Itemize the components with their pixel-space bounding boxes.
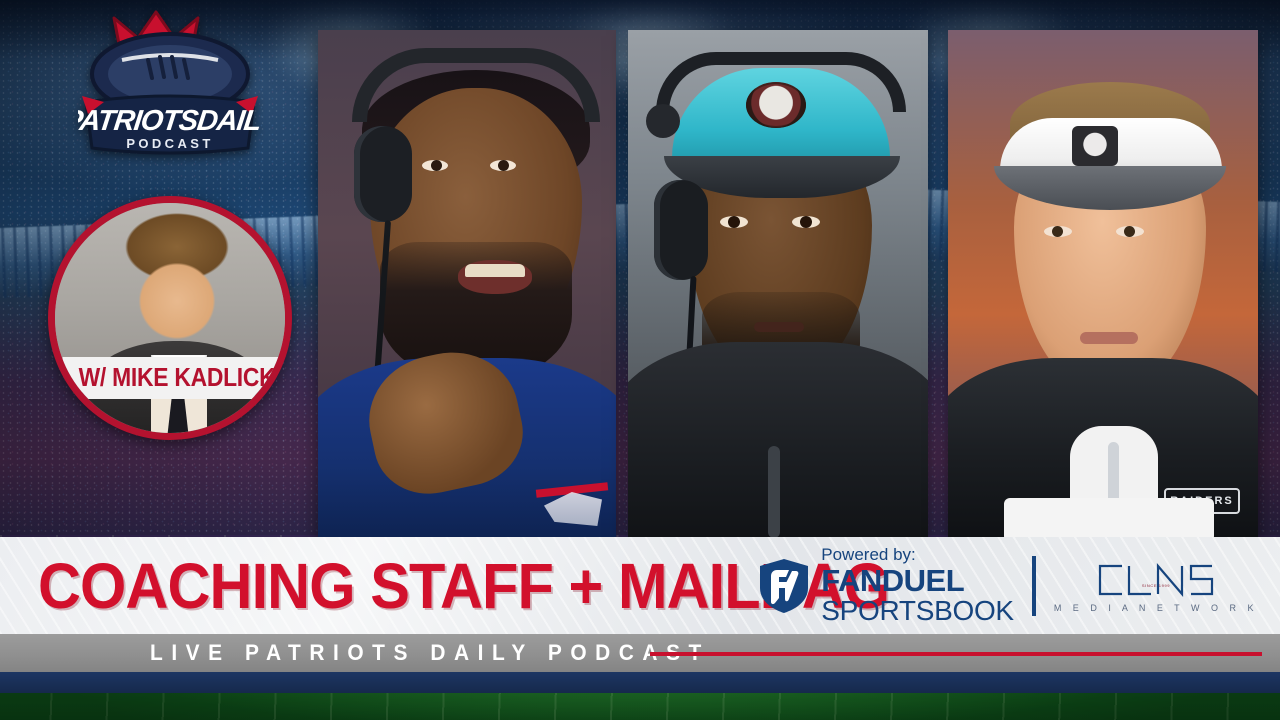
fanduel-wordmark: Powered by: FANDUEL SPORTSBOOK	[821, 546, 1014, 626]
title-band: COACHING STAFF + MAILBAG Powered by: FAN…	[0, 537, 1280, 634]
svg-text:SINCE 1999: SINCE 1999	[1142, 583, 1170, 588]
navy-strip	[0, 672, 1280, 693]
coach-photo-strip: RAIDERS	[0, 0, 1280, 540]
clns-logo-icon: SINCE 1999	[1093, 559, 1219, 601]
subtitle-band: LIVE PATRIOTS DAILY PODCAST	[0, 634, 1280, 672]
coach-teal-cap-photo	[628, 30, 928, 538]
thumbnail-canvas: PATRIOTSDAILY PODCAST W/ MIKE KADLICK	[0, 0, 1280, 720]
coach-panel-1	[318, 30, 616, 538]
clns-sponsor: SINCE 1999 M E D I A N E T W O R K	[1054, 559, 1258, 613]
coach-headset-photo	[318, 30, 616, 538]
fanduel-sponsor: Powered by: FANDUEL SPORTSBOOK	[758, 546, 1014, 626]
sponsor-group: Powered by: FANDUEL SPORTSBOOK SINCE 199…	[758, 537, 1258, 634]
fanduel-sub: SPORTSBOOK	[821, 596, 1014, 625]
coach-panel-3: RAIDERS	[948, 30, 1258, 538]
clns-sub-label: M E D I A N E T W O R K	[1054, 603, 1258, 613]
fanduel-name: FANDUEL	[821, 565, 1014, 597]
sponsor-divider	[1032, 556, 1036, 616]
powered-by-label: Powered by:	[821, 546, 1014, 563]
coach-panel-2	[628, 30, 928, 538]
fanduel-shield-icon	[758, 558, 810, 614]
coach-visor-photo: RAIDERS	[948, 30, 1258, 538]
subtitle-text: LIVE PATRIOTS DAILY PODCAST	[150, 640, 710, 666]
accent-rule	[650, 652, 1262, 656]
